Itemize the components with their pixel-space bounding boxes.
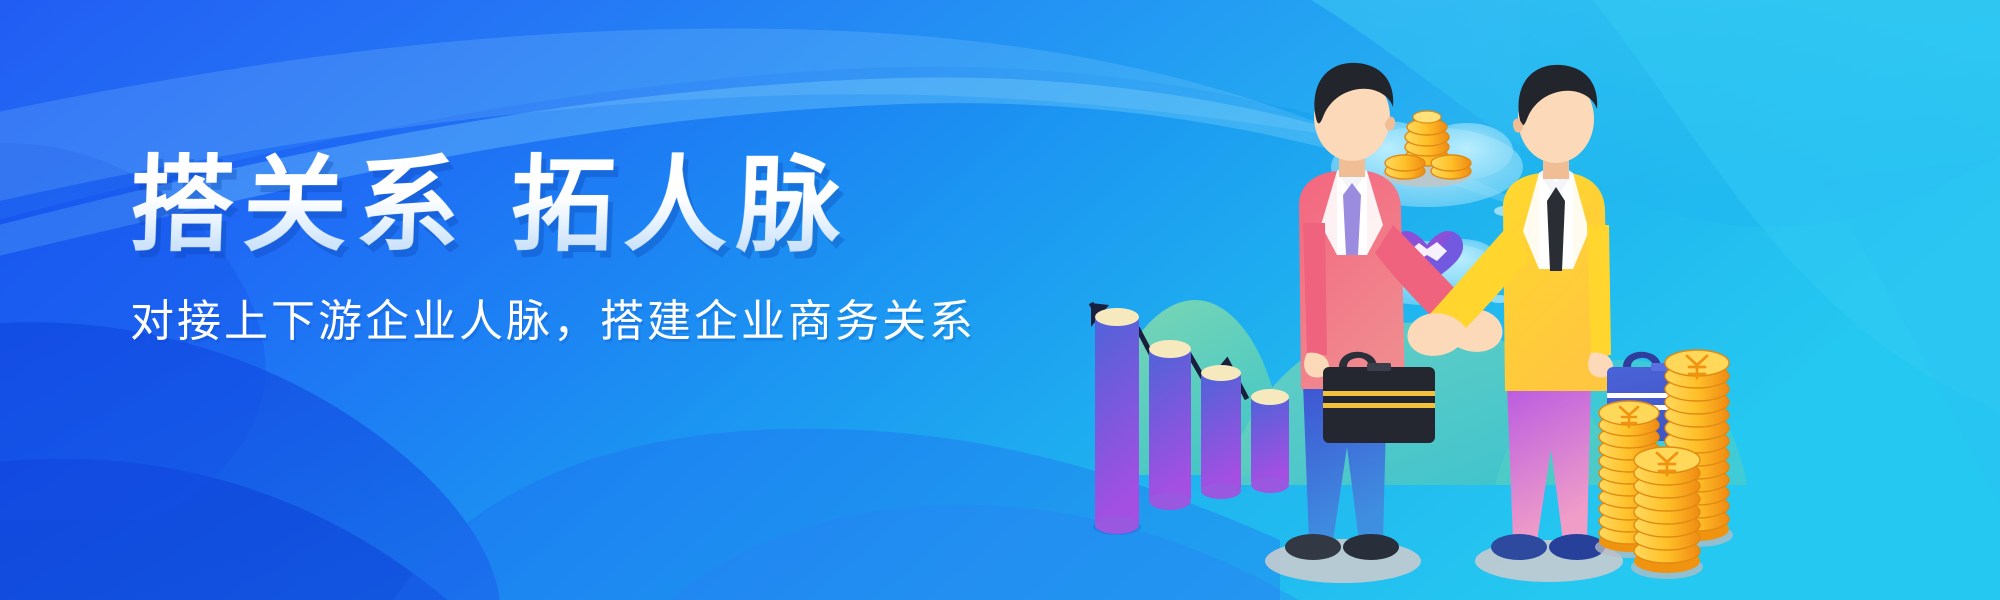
right-man-arm-case — [1587, 225, 1611, 355]
left-man-tie — [1343, 183, 1361, 255]
bar-cap-2 — [1149, 340, 1191, 358]
bar-4 — [1251, 397, 1289, 485]
left-man-shoe-1 — [1285, 534, 1341, 560]
banner-headline: 搭关系拓人脉 — [128, 150, 1032, 262]
briefcase-latch-black — [1367, 363, 1391, 371]
briefcase-stripe-black-2 — [1323, 403, 1435, 408]
headline-part-2: 拓人脉 — [509, 148, 852, 264]
banner-text-block: 搭关系拓人脉 对接上下游企业人脉，搭建企业商务关系 — [130, 150, 1030, 349]
bar-cap-4 — [1251, 389, 1289, 405]
left-man-shoe-2 — [1343, 534, 1399, 560]
right-man-shoe-1 — [1491, 534, 1547, 560]
bar-2 — [1149, 349, 1191, 501]
right-man-tie — [1547, 187, 1565, 271]
handshake-illustration — [1075, 55, 1775, 600]
bar-cap-1 — [1095, 308, 1139, 326]
bar-cap-3 — [1201, 365, 1241, 381]
briefcase-stripe-black-1 — [1323, 391, 1435, 396]
headline-part-1: 搭关系 — [128, 148, 471, 264]
banner-subtitle: 对接上下游企业人脉，搭建企业商务关系 — [130, 296, 1030, 349]
bar-base-4 — [1251, 477, 1289, 493]
promo-banner: 搭关系拓人脉 对接上下游企业人脉，搭建企业商务关系 — [0, 0, 2000, 600]
bar-1 — [1095, 317, 1139, 525]
bar-base-3 — [1201, 483, 1241, 499]
left-man-arm-case — [1303, 223, 1327, 355]
bar-base-1 — [1095, 516, 1139, 534]
coin-stack-front — [1634, 447, 1700, 573]
bar-base-2 — [1149, 492, 1191, 510]
bar-3 — [1201, 373, 1241, 491]
